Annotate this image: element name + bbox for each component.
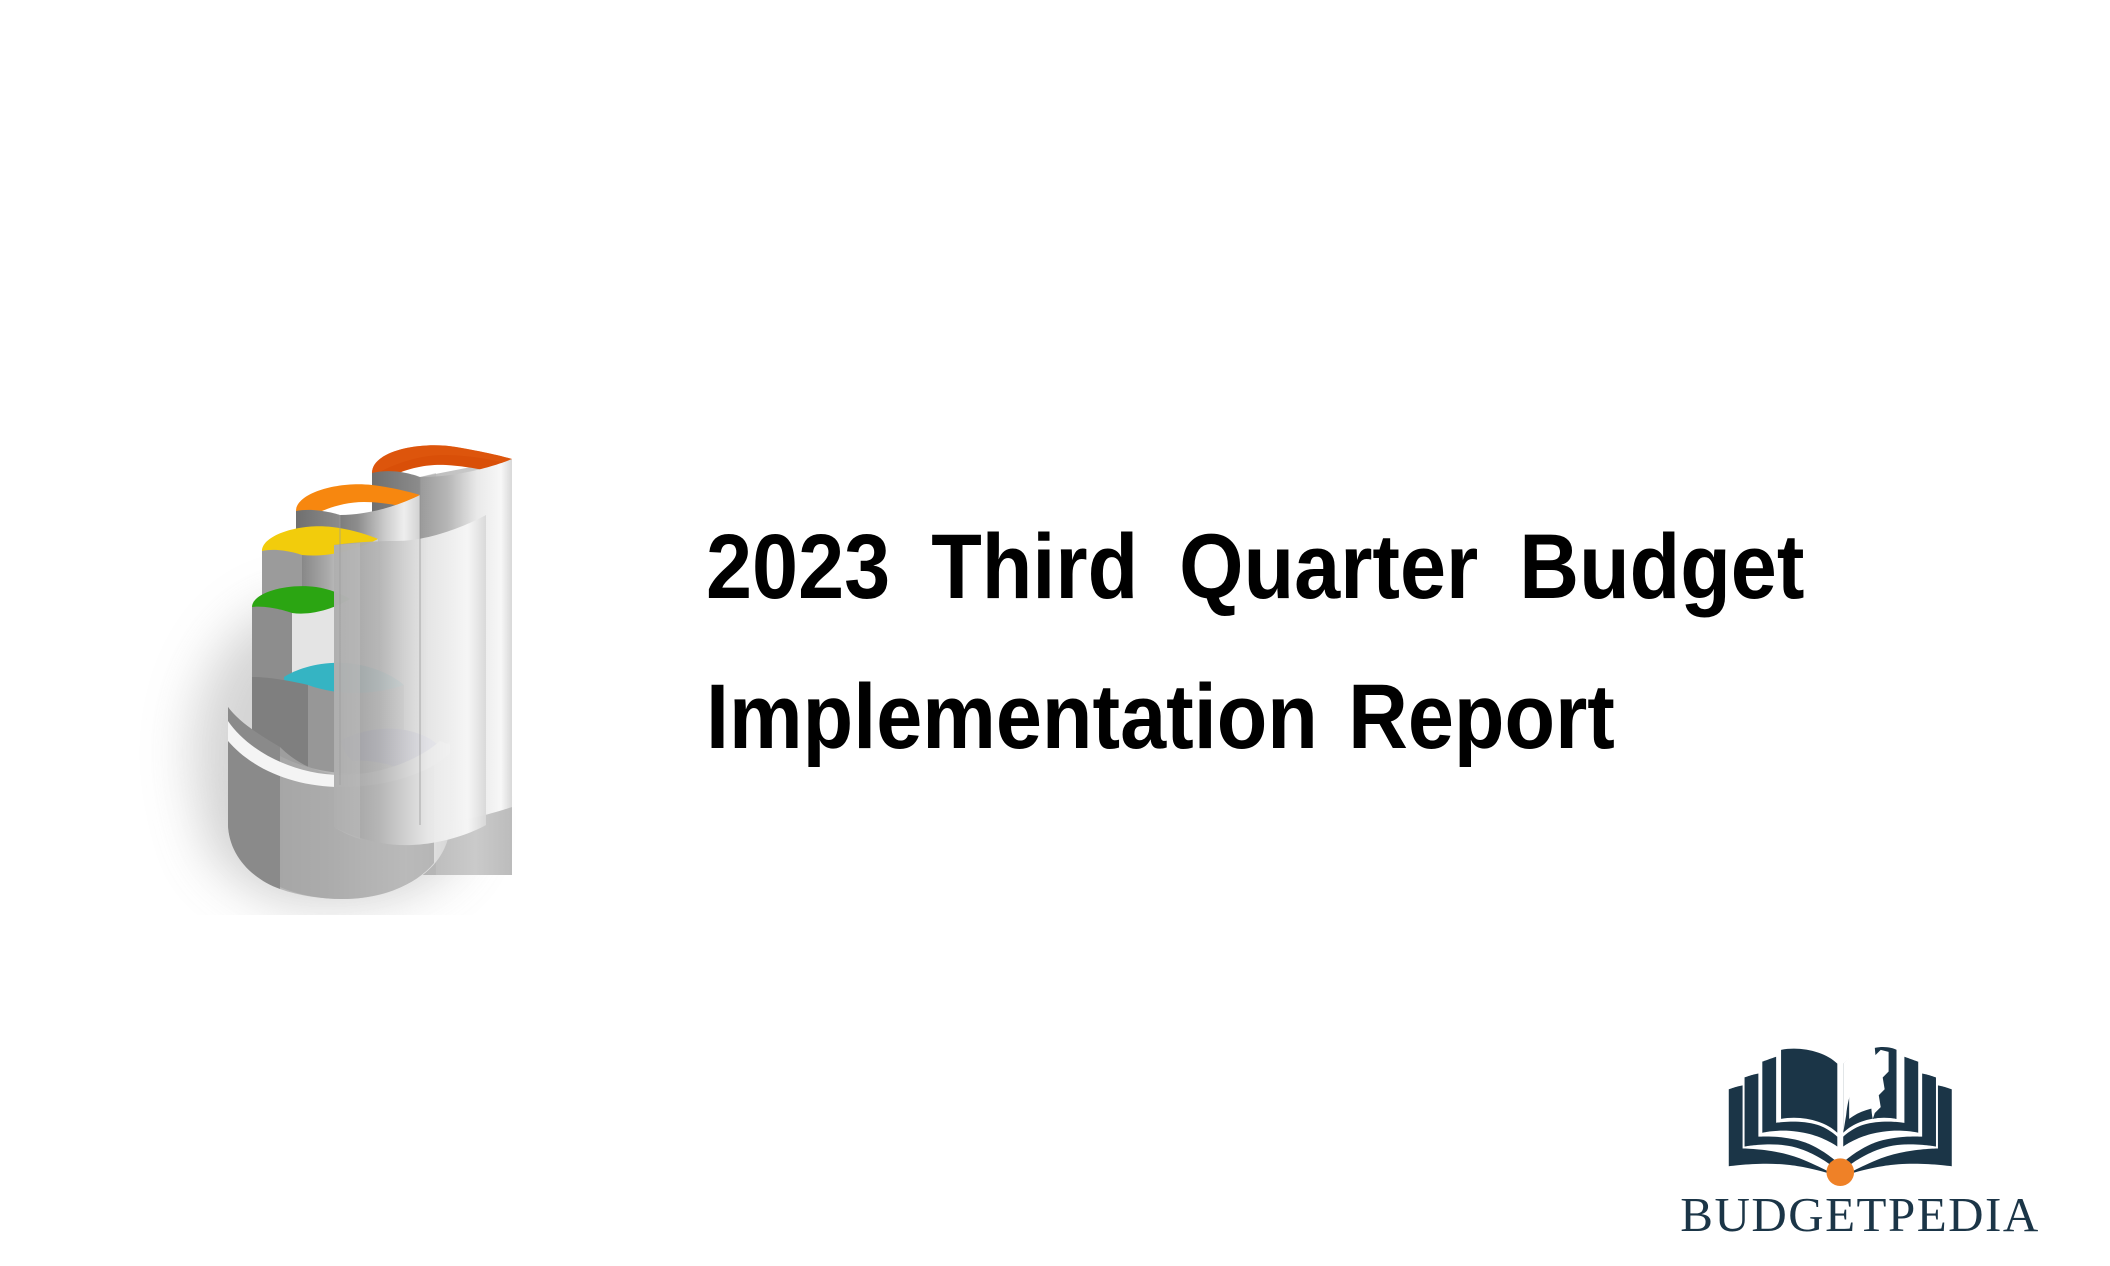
chart-front-cylinder [334,511,486,845]
hero-3d-chart-graphic [120,355,640,915]
budgetpedia-logo: BUDGETPEDIA [1700,1038,2020,1253]
cover-title-block: 2023 Third Quarter Budget Implementation… [706,492,2036,792]
logo-accent-dot [1826,1158,1854,1186]
open-book-icon [1725,1038,1995,1186]
cover-title-line-1: 2023 Third Quarter Budget [706,492,1903,642]
cover-title-line-2: Implementation Report [706,642,1903,792]
report-cover-page: 2023 Third Quarter Budget Implementation… [0,0,2110,1266]
budgetpedia-wordmark: BUDGETPEDIA [1680,1190,2039,1239]
